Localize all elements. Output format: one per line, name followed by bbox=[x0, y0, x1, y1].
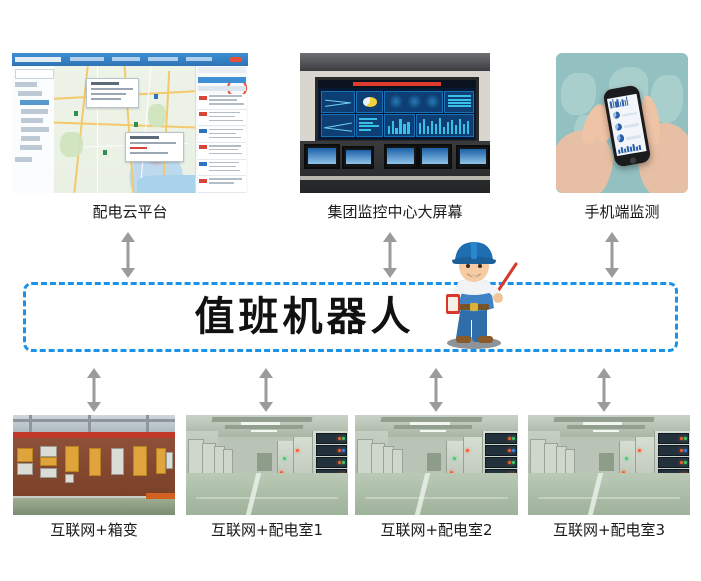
cloud-platform-map-screenshot bbox=[12, 53, 248, 193]
alarm-row[interactable] bbox=[198, 110, 246, 126]
distribution-room-corridor-photo-1 bbox=[186, 415, 348, 515]
hand-holding-smartphone-photo bbox=[556, 53, 688, 193]
tree-node[interactable] bbox=[20, 145, 42, 150]
node-caption-mobile-monitoring: 手机端监测 bbox=[546, 203, 698, 221]
connector-arrow-room-1 bbox=[257, 368, 275, 412]
distribution-room-corridor-photo-3 bbox=[528, 415, 690, 515]
alarm-row[interactable] bbox=[198, 160, 246, 176]
map-canvas[interactable] bbox=[54, 66, 196, 193]
tree-node[interactable] bbox=[21, 109, 47, 114]
severity-badge bbox=[199, 179, 207, 183]
connector-arrow-cloud-platform bbox=[119, 232, 137, 278]
map-toolbar[interactable] bbox=[198, 67, 246, 73]
tree-search-input[interactable] bbox=[15, 69, 54, 79]
home-button[interactable] bbox=[629, 157, 636, 163]
menu-item[interactable] bbox=[148, 57, 178, 61]
distribution-room-corridor-photo-2 bbox=[355, 415, 518, 515]
device-tree-panel[interactable] bbox=[12, 66, 55, 193]
connector-arrow-mobile-monitoring bbox=[603, 232, 621, 278]
node-box-substation[interactable] bbox=[13, 415, 175, 515]
diagram-canvas: 配电云平台 bbox=[0, 0, 701, 581]
node-caption-distribution-room-2: 互联网+配电室2 bbox=[355, 521, 518, 539]
tree-node[interactable] bbox=[15, 157, 32, 162]
alarm-row[interactable] bbox=[198, 143, 246, 159]
app-logo bbox=[15, 57, 61, 62]
node-caption-box-substation: 互联网+箱变 bbox=[13, 521, 175, 539]
alarm-panel-tabs[interactable] bbox=[198, 86, 246, 91]
alarm-row[interactable] bbox=[198, 94, 246, 110]
center-banner-title: 值班机器人 bbox=[0, 286, 701, 348]
connector-arrow-box-substation bbox=[85, 368, 103, 412]
node-control-center[interactable] bbox=[300, 53, 490, 193]
connector-arrow-room-2 bbox=[427, 368, 445, 412]
tree-node[interactable] bbox=[18, 91, 42, 96]
tree-node[interactable] bbox=[21, 127, 49, 132]
node-caption-distribution-room-3: 互联网+配电室3 bbox=[528, 521, 690, 539]
app-top-bar bbox=[12, 53, 248, 66]
red-switchgear-cabinets-photo bbox=[13, 415, 175, 515]
menu-item[interactable] bbox=[70, 57, 104, 61]
node-cloud-platform[interactable] bbox=[12, 53, 248, 193]
connector-arrow-control-center bbox=[381, 232, 399, 278]
tree-node[interactable] bbox=[15, 82, 37, 87]
alarm-panel-header bbox=[198, 77, 246, 83]
alarm-row[interactable] bbox=[198, 127, 246, 143]
node-caption-cloud-platform: 配电云平台 bbox=[12, 203, 248, 221]
node-distribution-room-1[interactable] bbox=[186, 415, 348, 515]
tree-node[interactable] bbox=[21, 136, 40, 141]
severity-badge bbox=[199, 145, 207, 149]
menu-item[interactable] bbox=[186, 57, 212, 61]
engineer-robot-character bbox=[430, 238, 522, 350]
severity-badge bbox=[199, 112, 207, 116]
node-distribution-room-2[interactable] bbox=[355, 415, 518, 515]
connector-arrow-room-3 bbox=[595, 368, 613, 412]
alarm-row[interactable] bbox=[198, 176, 246, 192]
alarm-list-panel[interactable] bbox=[195, 66, 248, 193]
video-wall-screen bbox=[315, 77, 478, 143]
node-distribution-room-3[interactable] bbox=[528, 415, 690, 515]
node-mobile-monitoring[interactable] bbox=[556, 53, 688, 193]
node-caption-control-center: 集团监控中心大屏幕 bbox=[290, 203, 500, 221]
severity-badge bbox=[199, 129, 207, 133]
alert-indicator bbox=[230, 57, 242, 62]
severity-badge bbox=[199, 162, 207, 166]
tree-node[interactable] bbox=[21, 118, 42, 123]
map-info-popup bbox=[86, 78, 139, 108]
severity-badge bbox=[199, 96, 207, 100]
phone-dashboard-screen bbox=[607, 93, 647, 155]
operator-desk bbox=[300, 141, 490, 193]
map-info-popup bbox=[125, 132, 184, 162]
tree-node-selected[interactable] bbox=[20, 100, 50, 105]
menu-item[interactable] bbox=[112, 57, 140, 61]
node-caption-distribution-room-1: 互联网+配电室1 bbox=[186, 521, 348, 539]
control-center-video-wall-photo bbox=[300, 53, 490, 193]
